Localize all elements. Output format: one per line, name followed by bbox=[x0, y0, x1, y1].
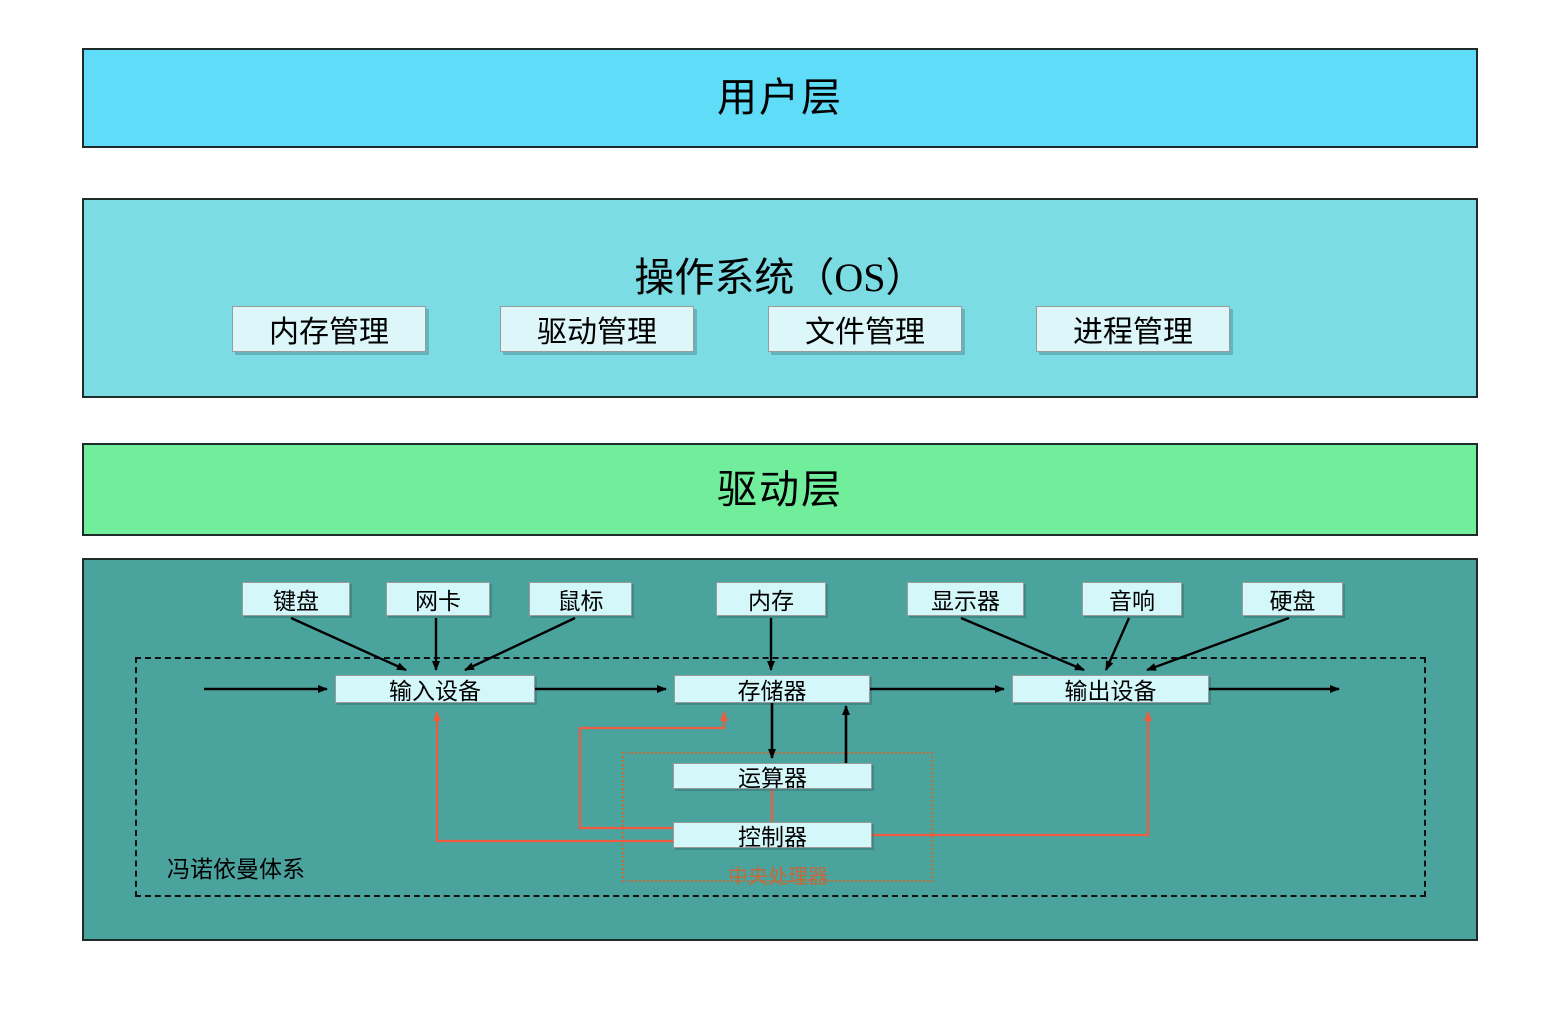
device-label: 网卡 bbox=[415, 582, 461, 616]
device-label: 音响 bbox=[1109, 582, 1155, 616]
wire-mouse-to-input bbox=[465, 618, 575, 670]
wire-speaker-to-output bbox=[1106, 618, 1129, 670]
layer-hardware: 冯诺依曼体系 中央处理器 bbox=[82, 558, 1478, 941]
wire-controller-to-input bbox=[437, 712, 673, 841]
device-label: 显示器 bbox=[931, 582, 1000, 616]
wire-harddisk-to-output bbox=[1147, 618, 1289, 670]
device-keyboard[interactable]: 键盘 bbox=[242, 582, 350, 616]
os-module-label: 文件管理 bbox=[805, 307, 925, 351]
layer-user: 用户层 bbox=[82, 48, 1478, 148]
core-label: 存储器 bbox=[738, 672, 807, 706]
layer-driver-title: 驱动层 bbox=[717, 470, 843, 510]
layer-driver: 驱动层 bbox=[82, 443, 1478, 536]
os-module-label: 进程管理 bbox=[1073, 307, 1193, 351]
device-speaker[interactable]: 音响 bbox=[1082, 582, 1182, 616]
layer-os: 操作系统（OS） 内存管理 驱动管理 文件管理 进程管理 bbox=[82, 198, 1478, 398]
core-label: 输出设备 bbox=[1065, 672, 1157, 706]
wire-controller-to-output bbox=[872, 712, 1148, 835]
device-mouse[interactable]: 鼠标 bbox=[529, 582, 632, 616]
core-output-device[interactable]: 输出设备 bbox=[1012, 675, 1209, 703]
core-label: 输入设备 bbox=[389, 672, 481, 706]
core-input-device[interactable]: 输入设备 bbox=[335, 675, 535, 703]
device-memory[interactable]: 内存 bbox=[716, 582, 826, 616]
core-label: 控制器 bbox=[738, 818, 807, 852]
core-controller[interactable]: 控制器 bbox=[673, 822, 872, 848]
os-module-label: 驱动管理 bbox=[537, 307, 657, 351]
device-network-card[interactable]: 网卡 bbox=[386, 582, 490, 616]
cpu-label: 中央处理器 bbox=[703, 860, 853, 889]
core-label: 运算器 bbox=[738, 759, 807, 793]
device-label: 硬盘 bbox=[1270, 582, 1316, 616]
os-module-group: 内存管理 驱动管理 文件管理 进程管理 bbox=[84, 306, 1476, 352]
device-label: 内存 bbox=[748, 582, 794, 616]
diagram-canvas: 用户层 操作系统（OS） 内存管理 驱动管理 文件管理 进程管理 驱动层 冯 bbox=[0, 0, 1552, 1030]
layer-os-title: 操作系统（OS） bbox=[84, 245, 1476, 303]
hardware-diagram: 冯诺依曼体系 中央处理器 bbox=[84, 560, 1476, 939]
wire-monitor-to-output bbox=[961, 618, 1084, 670]
os-module-process-management[interactable]: 进程管理 bbox=[1036, 306, 1230, 352]
core-alu[interactable]: 运算器 bbox=[673, 763, 872, 789]
core-storage[interactable]: 存储器 bbox=[674, 675, 870, 703]
device-label: 鼠标 bbox=[558, 582, 604, 616]
device-harddisk[interactable]: 硬盘 bbox=[1242, 582, 1343, 616]
os-module-label: 内存管理 bbox=[269, 307, 389, 351]
os-module-file-management[interactable]: 文件管理 bbox=[768, 306, 962, 352]
os-module-driver-management[interactable]: 驱动管理 bbox=[500, 306, 694, 352]
von-neumann-label: 冯诺依曼体系 bbox=[167, 850, 305, 884]
layer-user-title: 用户层 bbox=[717, 78, 843, 118]
wire-keyboard-to-input bbox=[291, 618, 406, 670]
device-label: 键盘 bbox=[273, 582, 319, 616]
os-module-memory-management[interactable]: 内存管理 bbox=[232, 306, 426, 352]
device-monitor[interactable]: 显示器 bbox=[907, 582, 1024, 616]
